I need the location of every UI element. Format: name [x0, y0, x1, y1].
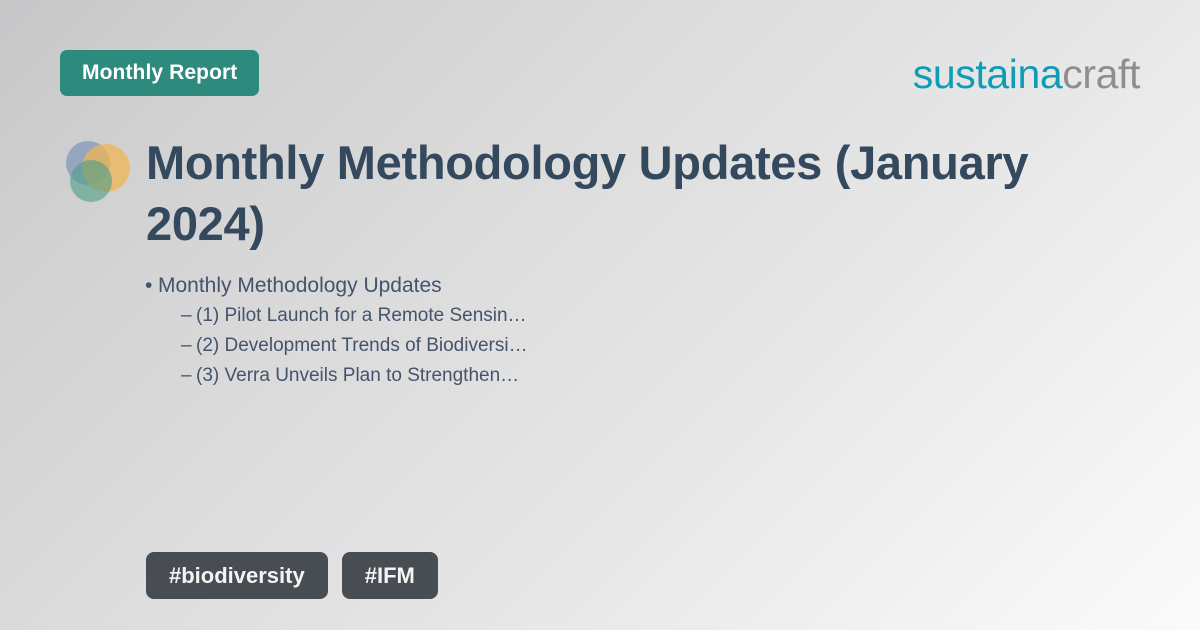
page-title: Monthly Methodology Updates (January 202…: [146, 132, 1106, 254]
outline-list: •Monthly Methodology Updates –(1) Pilot …: [145, 270, 1045, 391]
three-overlapping-circles-logo-icon: [60, 136, 132, 208]
tag-row: #biodiversity #IFM: [146, 552, 438, 599]
list-item: •Monthly Methodology Updates: [145, 270, 1045, 301]
tag-chip-label: #IFM: [365, 563, 415, 589]
report-type-badge: Monthly Report: [60, 50, 259, 96]
green-circle: [70, 160, 112, 202]
list-item-label: (2) Development Trends of Biodiversi…: [196, 335, 528, 356]
brand-wordmark-part-a: sustaina: [913, 51, 1063, 97]
list-item: –(3) Verra Unveils Plan to Strengthen…: [145, 361, 1045, 391]
header-row: Monthly Report sustainacraft: [60, 50, 1140, 98]
dash-marker: –: [181, 361, 196, 391]
report-cover-card: Monthly Report sustainacraft Monthly Met…: [0, 0, 1200, 630]
list-item: –(2) Development Trends of Biodiversi…: [145, 331, 1045, 361]
title-block: Monthly Methodology Updates (January 202…: [60, 132, 1120, 254]
dash-marker: –: [181, 331, 196, 361]
list-item-label: (1) Pilot Launch for a Remote Sensin…: [196, 305, 527, 326]
brand-wordmark: sustainacraft: [913, 48, 1140, 100]
tag-chip-label: #biodiversity: [169, 563, 305, 589]
list-item: –(1) Pilot Launch for a Remote Sensin…: [145, 301, 1045, 331]
tag-chip-ifm[interactable]: #IFM: [342, 552, 438, 599]
list-item-label: Monthly Methodology Updates: [158, 274, 442, 297]
list-item-label: (3) Verra Unveils Plan to Strengthen…: [196, 365, 519, 386]
report-type-badge-label: Monthly Report: [82, 61, 237, 85]
bullet-marker: •: [145, 270, 158, 301]
tag-chip-biodiversity[interactable]: #biodiversity: [146, 552, 328, 599]
dash-marker: –: [181, 301, 196, 331]
brand-wordmark-part-b: craft: [1062, 51, 1140, 97]
